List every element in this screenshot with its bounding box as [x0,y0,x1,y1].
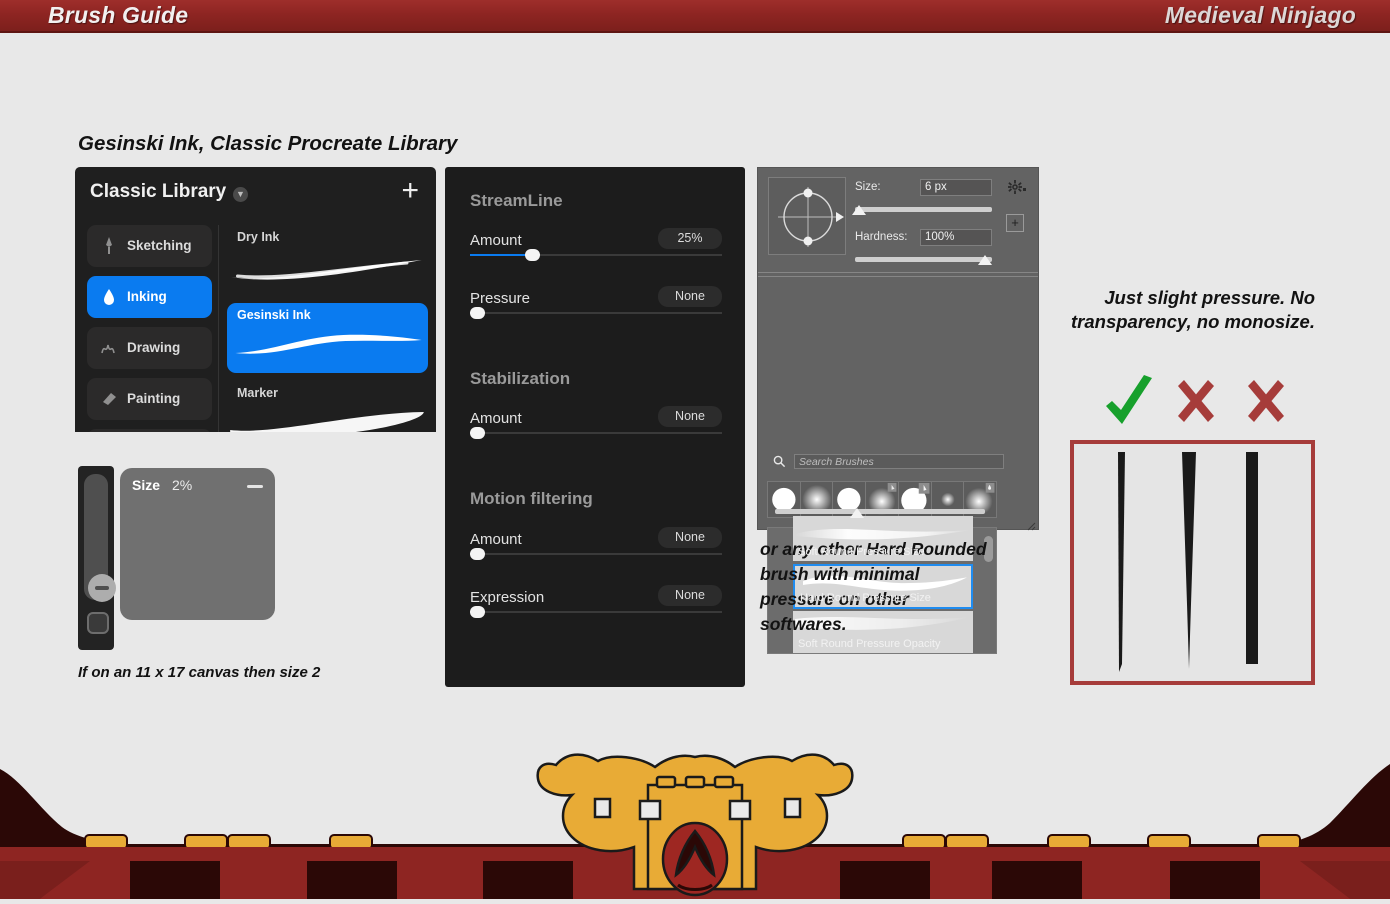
slider-handle[interactable] [470,307,485,319]
hardness-slider-handle[interactable] [978,255,992,265]
library-divider [218,225,219,432]
slider-row-motion-amount[interactable]: Amount None [470,531,722,549]
brush-name: Dry Ink [237,230,279,244]
page-header: Brush Guide Medieval Ninjago [0,0,1390,33]
section-title-streamline: StreamLine [470,191,563,211]
sidebar-item-label: Painting [127,391,180,406]
pencil-icon [99,236,119,256]
preset-zoom-slider-handle[interactable] [850,508,864,518]
sidebar-item-painting[interactable]: Painting [87,378,212,420]
opacity-rail-handle[interactable] [87,612,109,634]
ink-drop-icon [99,287,119,307]
size-slider-track[interactable] [855,207,992,212]
hardness-label: Hardness: [855,231,907,243]
slider-track[interactable] [470,432,722,434]
brush-preset-name: Soft Round Pressure Opacity [798,638,940,650]
slider-track[interactable] [470,553,722,555]
size-popover-dash-icon [247,485,263,488]
slider-row-motion-expression[interactable]: Expression None [470,589,722,607]
check-icon [1106,375,1152,424]
sidebar-item-partial[interactable] [87,429,212,432]
slider-value: None [658,406,722,427]
library-category-list: Sketching Inking Drawing Painting [87,225,212,432]
panel-divider [758,276,1038,277]
slider-label: Amount [470,232,522,249]
gesinski-ink-stroke-preview [227,321,428,369]
procreate-brush-library-panel[interactable]: Classic Library ▼ + Sketching Inking Dra… [75,167,436,432]
marker-stroke-preview [227,399,428,432]
hardness-slider-track[interactable] [855,257,992,262]
slider-handle[interactable] [470,606,485,618]
brush-name: Gesinski Ink [237,308,311,322]
size-slider-handle[interactable] [852,205,866,215]
chevron-down-icon[interactable]: ▼ [233,187,248,202]
size-rail-handle[interactable] [88,574,116,602]
library-title: Classic Library [90,181,226,203]
size-label: Size: [855,181,881,193]
slider-label: Pressure [470,290,530,307]
brush-name: Marker [237,386,278,400]
slider-row-stabilization-amount[interactable]: Amount None [470,410,722,428]
slider-label: Expression [470,589,544,606]
library-header: Classic Library ▼ + [75,167,436,222]
panel-divider [758,272,1038,273]
procreate-size-rail[interactable] [78,466,114,650]
preset-zoom-slider-track[interactable] [775,509,985,514]
resize-handle-icon[interactable] [1027,518,1036,527]
size-popover-value: 2% [172,477,192,493]
page-title: Brush Guide [48,2,188,29]
slider-handle[interactable] [470,427,485,439]
slider-label: Amount [470,410,522,427]
correct-pressure-stroke [1118,452,1125,672]
add-brush-button[interactable]: + [401,179,419,203]
slider-row-streamline-amount[interactable]: Amount 25% [470,232,722,250]
list-item[interactable]: Dry Ink [227,225,428,295]
slider-track[interactable] [470,312,722,314]
handle-grip-icon [95,586,109,590]
section-title-stabilization: Stabilization [470,369,570,389]
sidebar-item-drawing[interactable]: Drawing [87,327,212,369]
sidebar-item-label: Inking [127,289,167,304]
slider-value: None [658,585,722,606]
slider-fill [470,254,533,256]
size-input[interactable]: 6 px [920,179,992,196]
slider-label: Amount [470,531,522,548]
slider-value: None [658,286,722,307]
slider-track[interactable] [470,254,722,256]
sidebar-item-sketching[interactable]: Sketching [87,225,212,267]
brush-preset-name: Hard Round Pressure Size [800,592,931,604]
search-icon [773,455,786,473]
list-item[interactable]: Marker [227,381,428,432]
slider-handle[interactable] [525,249,540,261]
dry-ink-stroke-preview [227,243,428,291]
brush-preset-name: Soft Round Pressure Size [798,546,925,558]
gear-icon[interactable] [1008,180,1022,199]
sidebar-item-inking[interactable]: Inking [87,276,212,318]
library-brush-list: Dry Ink Gesinski Ink Marker [227,225,428,432]
brush-settings-panel: StreamLine Amount 25% Pressure None Stab… [445,167,745,687]
brush-roundness-control-icon [769,178,847,256]
new-preset-plus-icon[interactable]: + [1006,214,1024,232]
slider-track[interactable] [470,611,722,613]
stroke-demo-box [1070,440,1315,685]
size-popover-label: Size [132,477,160,493]
hardness-input[interactable]: 100% [920,229,992,246]
size-caption: If on an 11 x 17 canvas then size 2 [78,664,320,681]
section-title-motion-filtering: Motion filtering [470,489,593,509]
brush-angle-preview[interactable] [768,177,846,255]
slider-handle[interactable] [470,548,485,560]
slider-row-streamline-pressure[interactable]: Pressure None [470,290,722,308]
too-much-taper-stroke [1182,452,1196,669]
search-input[interactable]: Search Brushes [794,454,1004,469]
sidebar-item-label: Drawing [127,340,180,355]
sidebar-item-label: Sketching [127,238,192,253]
monosize-stroke [1246,452,1258,664]
verdict-marks-row [1100,372,1300,430]
project-title: Medieval Ninjago [1165,2,1356,29]
cross-icon [1178,380,1214,422]
slider-value: None [658,527,722,548]
slider-value: 25% [658,228,722,249]
photoshop-brush-preset-picker: Size: 6 px Hardness: 100% + Search [757,167,1039,530]
scribble-icon [99,338,119,358]
page-footer [0,739,1390,899]
main-caption: Gesinski Ink, Classic Procreate Library [78,132,457,156]
pressure-caption: Just slight pressure. No transparency, n… [1063,286,1315,334]
cross-icon [1248,380,1284,422]
paint-brush-icon [99,389,119,409]
size-value-popover: Size 2% [120,468,275,620]
list-item-selected[interactable]: Gesinski Ink [227,303,428,373]
